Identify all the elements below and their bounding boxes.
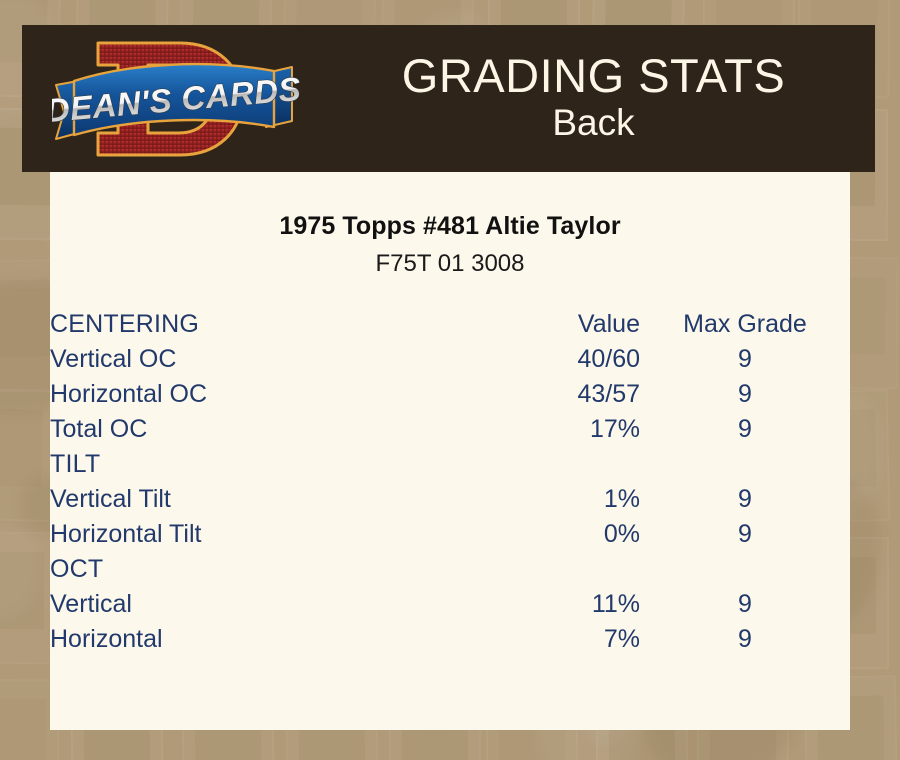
stat-max-grade: 9 bbox=[640, 412, 850, 447]
table-row: Vertical11%9 bbox=[50, 587, 850, 622]
section-header-row: TILT bbox=[50, 447, 850, 482]
page-subtitle: Back bbox=[552, 102, 634, 145]
stat-max-grade: 9 bbox=[640, 587, 850, 622]
stat-value: 11% bbox=[420, 587, 640, 622]
section-spacer-value bbox=[420, 552, 640, 587]
card-serial-number: F75T 01 3008 bbox=[50, 250, 850, 278]
column-header-max-grade: Max Grade bbox=[640, 307, 850, 342]
stat-label: Horizontal Tilt bbox=[50, 517, 420, 552]
stat-value: 40/60 bbox=[420, 342, 640, 377]
stat-value: 0% bbox=[420, 517, 640, 552]
card-title: 1975 Topps #481 Altie Taylor bbox=[50, 212, 850, 241]
stat-label: Horizontal bbox=[50, 622, 420, 657]
section-header-row: CENTERINGValueMax Grade bbox=[50, 307, 850, 342]
table-row: Horizontal OC43/579 bbox=[50, 377, 850, 412]
table-row: Vertical OC40/609 bbox=[50, 342, 850, 377]
section-title-tilt: TILT bbox=[50, 447, 420, 482]
stat-max-grade: 9 bbox=[640, 622, 850, 657]
stat-value: 7% bbox=[420, 622, 640, 657]
stat-value: 43/57 bbox=[420, 377, 640, 412]
column-header-value: Value bbox=[420, 307, 640, 342]
stat-value: 17% bbox=[420, 412, 640, 447]
stat-value: 1% bbox=[420, 482, 640, 517]
section-spacer-grade bbox=[640, 552, 850, 587]
table-row: Horizontal7%9 bbox=[50, 622, 850, 657]
stat-label: Vertical Tilt bbox=[50, 482, 420, 517]
grading-stats-table: CENTERINGValueMax GradeVertical OC40/609… bbox=[50, 307, 850, 657]
stat-max-grade: 9 bbox=[640, 482, 850, 517]
content-panel: 1975 Topps #481 Altie Taylor F75T 01 300… bbox=[50, 172, 850, 730]
stat-label: Total OC bbox=[50, 412, 420, 447]
section-spacer-value bbox=[420, 447, 640, 482]
section-title-oct: OCT bbox=[50, 552, 420, 587]
table-row: Total OC17%9 bbox=[50, 412, 850, 447]
stat-label: Vertical OC bbox=[50, 342, 420, 377]
stat-max-grade: 9 bbox=[640, 377, 850, 412]
header-title-group: GRADING STATS Back bbox=[312, 25, 875, 172]
header-bar: DEAN'S CARDS GRADING STATS Back bbox=[22, 25, 875, 172]
section-title-centering: CENTERING bbox=[50, 307, 420, 342]
stat-max-grade: 9 bbox=[640, 342, 850, 377]
stat-label: Horizontal OC bbox=[50, 377, 420, 412]
stat-max-grade: 9 bbox=[640, 517, 850, 552]
section-spacer-grade bbox=[640, 447, 850, 482]
table-row: Horizontal Tilt0%9 bbox=[50, 517, 850, 552]
deans-cards-logo[interactable]: DEAN'S CARDS bbox=[52, 29, 302, 169]
section-header-row: OCT bbox=[50, 552, 850, 587]
page-title: GRADING STATS bbox=[402, 51, 785, 100]
table-row: Vertical Tilt1%9 bbox=[50, 482, 850, 517]
stat-label: Vertical bbox=[50, 587, 420, 622]
